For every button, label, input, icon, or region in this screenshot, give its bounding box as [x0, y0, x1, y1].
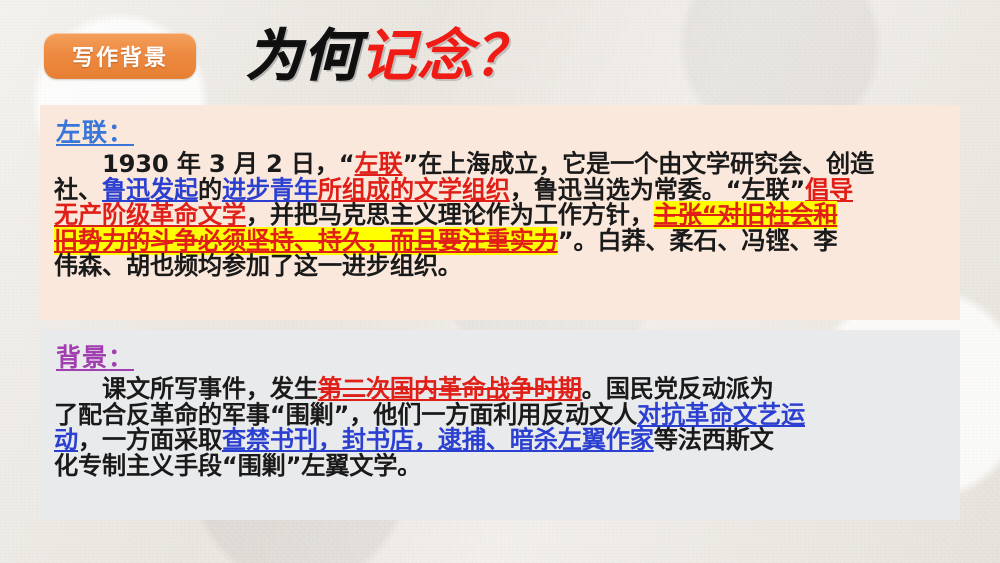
panel-background: 背景： 课文所写事件，发生第二次国内革命战争时期。国民党反动派为了配合反革命的军… — [40, 330, 960, 520]
text-run: 课文所写事件，发生 — [54, 375, 318, 403]
text-line: 课文所写事件，发生第二次国内革命战争时期。国民党反动派为 — [54, 377, 948, 403]
text-run: 伟森、胡也频均参加了这一进步组织。 — [54, 252, 462, 280]
emphasis-run: 进步青年 — [222, 176, 318, 204]
text-run: 等法西斯文 — [654, 426, 774, 454]
page-title: 为何记念？ — [246, 26, 531, 88]
panel-left-league-body: 1930 年 3 月 2 日，“左联”在上海成立，它是一个由文学研究会、创造社、… — [40, 149, 960, 280]
emphasis-run: 鲁迅发起 — [102, 176, 198, 204]
emphasis-run: 所组成的文学组织 — [318, 176, 510, 204]
emphasis-run: 倡导 — [805, 176, 853, 204]
emphasis-run: 第二次国内革命战争时期 — [318, 375, 582, 403]
section-badge: 写作背景 — [44, 33, 196, 79]
emphasis-run: 左联 — [355, 150, 403, 178]
text-run: ”。白莽、柔石、冯铿、李 — [558, 227, 838, 255]
emphasis-run: 对抗革命文艺运 — [637, 401, 805, 429]
text-run: ，并把马克思主义理论作为工作方针， — [246, 201, 654, 229]
text-run: ，鲁迅当选为常委。“左联” — [510, 176, 805, 204]
text-line: 动，一方面采取查禁书刊，封书店，逮捕、暗杀左翼作家等法西斯文 — [54, 428, 948, 454]
text-run: 社、 — [54, 176, 102, 204]
page-title-black: 为何 — [246, 24, 360, 89]
emphasis-run: 旧势力的斗争必须坚持、持久，而且要注重实力 — [54, 227, 558, 255]
section-badge-label: 写作背景 — [72, 40, 168, 72]
emphasis-run: 动 — [54, 426, 78, 454]
text-run: ”在上海成立，它是一个由文学研究会、创造 — [403, 150, 874, 178]
text-run: 的 — [198, 176, 222, 204]
text-run: ，一方面采取 — [78, 426, 222, 454]
text-line: 伟森、胡也频均参加了这一进步组织。 — [54, 254, 948, 280]
text-line: 社、鲁迅发起的进步青年所组成的文学组织，鲁迅当选为常委。“左联”倡导 — [54, 178, 948, 204]
text-run: 1930 年 3 月 2 日，“ — [54, 150, 355, 178]
text-run: 了配合反革命的军事“围剿”，他们一方面利用反动文人 — [54, 401, 637, 429]
slide-canvas: 写作背景 为何记念？ 左联： 1930 年 3 月 2 日，“左联”在上海成立，… — [0, 0, 1000, 563]
text-line: 1930 年 3 月 2 日，“左联”在上海成立，它是一个由文学研究会、创造 — [54, 152, 948, 178]
text-run: 。国民党反动派为 — [582, 375, 774, 403]
text-run: 化专制主义手段“围剿”左翼文学。 — [54, 452, 421, 480]
emphasis-run: 无产阶级革命文学 — [54, 201, 246, 229]
text-line: 无产阶级革命文学，并把马克思主义理论作为工作方针，主张“对旧社会和 — [54, 203, 948, 229]
emphasis-run: 查禁书刊，封书店，逮捕、暗杀左翼作家 — [222, 426, 654, 454]
panel-background-body: 课文所写事件，发生第二次国内革命战争时期。国民党反动派为了配合反革命的军事“围剿… — [40, 374, 960, 479]
page-title-red: 记念？ — [360, 24, 531, 89]
text-line: 化专制主义手段“围剿”左翼文学。 — [54, 454, 948, 480]
panel-left-league-heading: 左联： — [40, 105, 960, 149]
panel-background-heading: 背景： — [40, 330, 960, 374]
text-line: 旧势力的斗争必须坚持、持久，而且要注重实力”。白莽、柔石、冯铿、李 — [54, 229, 948, 255]
emphasis-run: 主张“对旧社会和 — [654, 201, 838, 229]
text-line: 了配合反革命的军事“围剿”，他们一方面利用反动文人对抗革命文艺运 — [54, 403, 948, 429]
panel-left-league: 左联： 1930 年 3 月 2 日，“左联”在上海成立，它是一个由文学研究会、… — [40, 105, 960, 320]
